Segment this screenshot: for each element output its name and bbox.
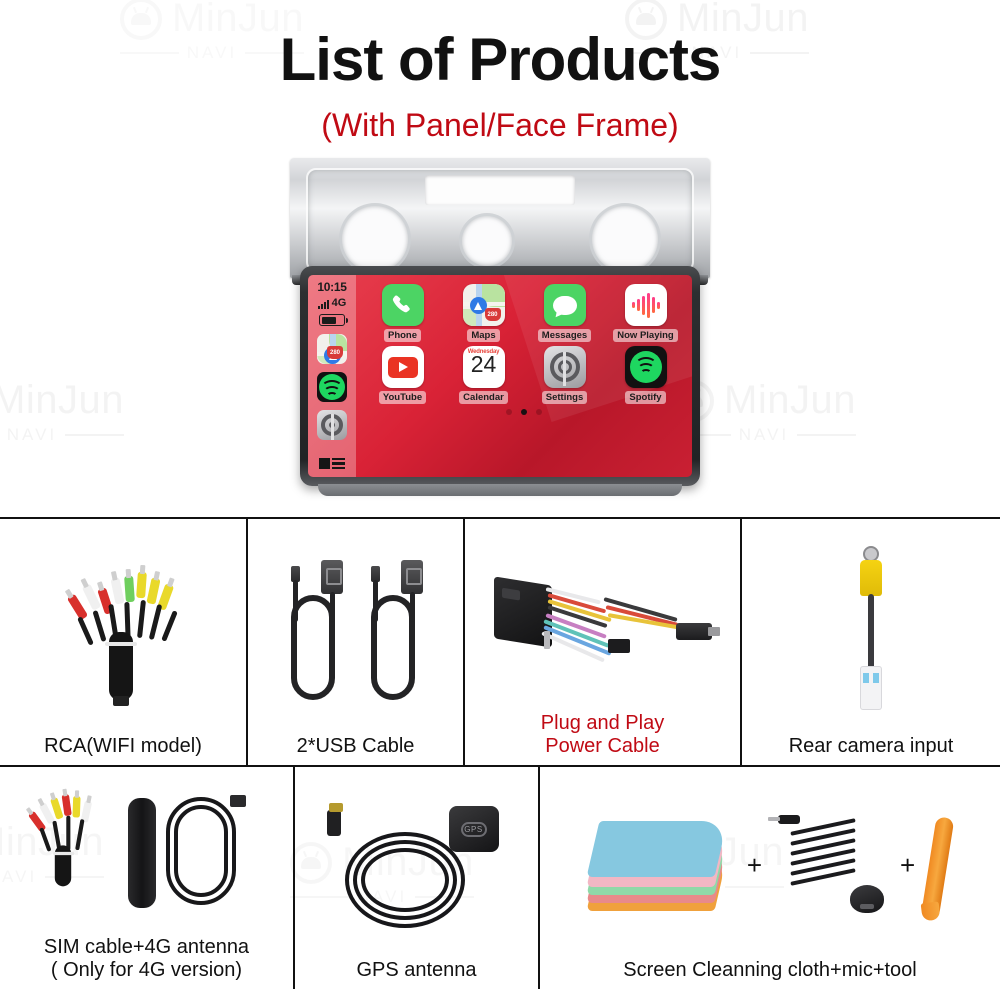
- app-label: Spotify: [625, 391, 665, 404]
- status-time: 10:15: [317, 280, 346, 294]
- watermark-logo: MinJun NAVI: [0, 378, 124, 445]
- face-frame-vent-right: [592, 206, 658, 272]
- sidebar-maps-icon[interactable]: 280: [317, 334, 347, 364]
- app-label: Calendar: [459, 391, 508, 404]
- app-messages[interactable]: Messages: [524, 284, 605, 342]
- page-header: List of Products (With Panel/Face Frame): [0, 0, 1000, 144]
- plus-sign-1: +: [747, 850, 762, 881]
- product-cell-gps-antenna[interactable]: GPS GPS antenna: [295, 767, 540, 989]
- page-title: List of Products: [0, 28, 1000, 91]
- app-spotify[interactable]: Spotify: [605, 346, 686, 404]
- face-frame-vent-center: [462, 216, 512, 266]
- product-label: 2*USB Cable: [297, 735, 415, 759]
- app-maps[interactable]: 280 Maps: [443, 284, 524, 342]
- now-playing-icon: [625, 284, 667, 326]
- page-indicator-dots[interactable]: [362, 409, 686, 415]
- product-row-2: SIM cable+4G antenna ( Only for 4G versi…: [0, 767, 1000, 989]
- app-now-playing[interactable]: Now Playing: [605, 284, 686, 342]
- app-label: Maps: [467, 329, 499, 342]
- product-label: Screen Cleanning cloth+mic+tool: [623, 959, 917, 983]
- sidebar-spotify-icon[interactable]: [317, 372, 347, 402]
- sidebar-settings-icon[interactable]: [317, 410, 347, 440]
- antenna-cable: [162, 793, 248, 913]
- cleaning-cloths-icon: [593, 819, 733, 911]
- app-calendar[interactable]: Wednesday 24 Calendar: [443, 346, 524, 404]
- list-grid-toggle-icon[interactable]: [319, 458, 345, 470]
- face-frame-slot: [425, 175, 575, 205]
- messages-icon: [544, 284, 586, 326]
- screen-bezel: 10:15 4G 280: [300, 266, 700, 486]
- app-label: Messages: [538, 329, 591, 342]
- app-label: Now Playing: [613, 329, 677, 342]
- product-label: RCA(WIFI model): [44, 735, 202, 759]
- product-label: GPS antenna: [356, 959, 476, 983]
- plus-sign-2: +: [900, 850, 915, 881]
- pry-tool-icon: [922, 816, 955, 914]
- cleaning-kit-icon: + +: [546, 775, 994, 955]
- rear-camera-input-icon: [748, 527, 994, 731]
- product-cell-rca[interactable]: RCA(WIFI model): [0, 519, 248, 765]
- product-cell-usb[interactable]: 2*USB Cable: [248, 519, 465, 765]
- gps-antenna-icon: GPS: [301, 775, 532, 955]
- product-cell-cleaning-kit[interactable]: + + Screen Cleanning cloth+mic+tool: [540, 767, 1000, 989]
- product-label-line2: Power Cable: [541, 735, 664, 759]
- app-label: Settings: [542, 391, 587, 404]
- status-signal: 4G: [318, 297, 347, 309]
- carplay-app-grid: Phone 280 Maps Messages: [356, 275, 692, 477]
- product-cell-rear-camera[interactable]: Rear camera input: [742, 519, 1000, 765]
- microphone-icon: [776, 815, 886, 915]
- watermark-sub: NAVI: [7, 425, 57, 445]
- product-label-line1: SIM cable+4G antenna: [44, 936, 249, 960]
- product-label-line2: ( Only for 4G version): [44, 959, 249, 983]
- page-subtitle: (With Panel/Face Frame): [0, 107, 1000, 144]
- status-network: 4G: [332, 297, 347, 309]
- product-row-1: RCA(WIFI model) 2*USB Cable: [0, 519, 1000, 767]
- app-phone[interactable]: Phone: [362, 284, 443, 342]
- usb-cable-icon: [254, 527, 457, 731]
- youtube-icon: [382, 346, 424, 388]
- product-label: Rear camera input: [789, 735, 954, 759]
- antenna-bar: [128, 798, 156, 908]
- carplay-sidebar[interactable]: 10:15 4G 280: [308, 275, 356, 477]
- app-youtube[interactable]: YouTube: [362, 346, 443, 404]
- calendar-icon: Wednesday 24: [463, 346, 505, 388]
- face-frame: [290, 158, 710, 278]
- maps-icon: 280: [463, 284, 505, 326]
- product-grid: RCA(WIFI model) 2*USB Cable: [0, 517, 1000, 989]
- sim-cable-antenna-icon: [6, 775, 287, 932]
- phone-icon: [382, 284, 424, 326]
- product-cell-sim-antenna[interactable]: SIM cable+4G antenna ( Only for 4G versi…: [0, 767, 295, 989]
- watermark-brand: MinJun: [724, 378, 856, 423]
- signal-bars-icon: [318, 300, 329, 309]
- product-label-line1: Plug and Play: [541, 712, 664, 736]
- watermark-sub: NAVI: [739, 425, 789, 445]
- settings-icon: [544, 346, 586, 388]
- rca-cable-icon: [6, 527, 240, 731]
- carplay-screen[interactable]: 10:15 4G 280: [308, 275, 692, 477]
- spotify-icon: [625, 346, 667, 388]
- power-cable-icon: [471, 527, 734, 708]
- battery-icon: [319, 314, 345, 326]
- watermark-brand: MinJun: [0, 378, 124, 423]
- app-label: YouTube: [379, 391, 426, 404]
- calendar-day: 24: [471, 354, 497, 376]
- head-unit-image: 10:15 4G 280: [300, 158, 700, 503]
- product-cell-power-cable[interactable]: Plug and Play Power Cable: [465, 519, 742, 765]
- app-label: Phone: [384, 329, 421, 342]
- app-settings[interactable]: Settings: [524, 346, 605, 404]
- face-frame-vent-left: [342, 206, 408, 272]
